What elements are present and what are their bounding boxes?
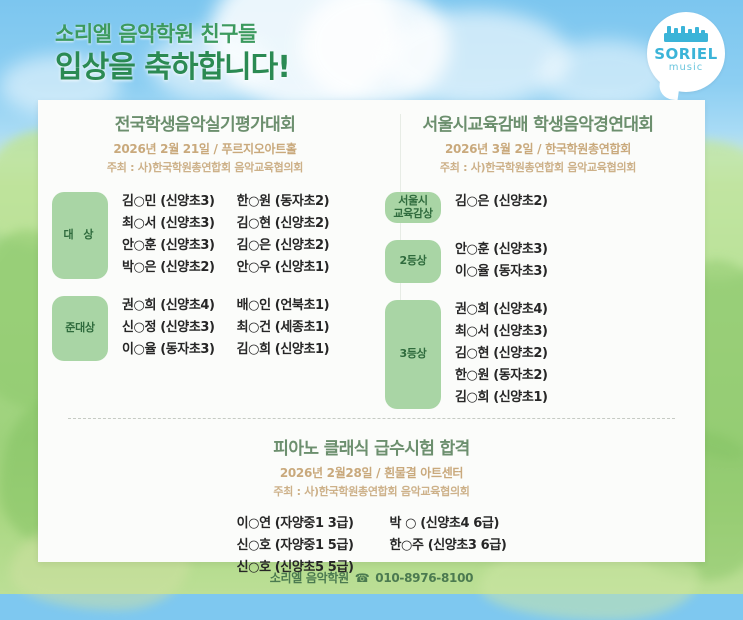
winner-name: 안○훈 (신양초3): [455, 239, 548, 261]
winner-name-column: 안○훈 (신양초3)이○율 (동자초3): [455, 239, 548, 283]
award-badge-line: 준대상: [65, 322, 94, 335]
award-group: 준대상권○희 (신양초4)신○정 (신양초3)이○율 (동자초3)배○인 (언북…: [40, 295, 370, 361]
winner-name: 권○희 (신양초4): [122, 295, 215, 317]
content-card: 전국학생음악실기평가대회2026년 2월 21일 / 푸르지오아트홀주최 : 사…: [38, 100, 705, 562]
winner-name: 신○정 (신양초3): [122, 317, 215, 339]
headline-title: 입상을 축하합니다!: [55, 49, 290, 87]
winner-name: 박○은 (신양초2): [122, 257, 215, 279]
winner-name-column: 김○민 (신양초3)최○서 (신양초3)안○훈 (신양초3)박○은 (신양초2): [122, 191, 215, 279]
winner-name: 안○훈 (신양초3): [122, 235, 215, 257]
award-badge-line: 2등상: [400, 255, 427, 268]
footer-contact: 소리엘 음악학원 ☎ 010-8976-8100: [0, 569, 743, 586]
winner-name: 김○은 (신양초2): [237, 235, 330, 257]
logo-bubble-tail: [658, 78, 681, 101]
winner-name-column: 권○희 (신양초4)최○서 (신양초3)김○현 (신양초2)한○원 (동자초2)…: [455, 299, 548, 409]
winner-name-column: 배○인 (언북초1)최○건 (세종초1)김○희 (신양초1): [237, 295, 330, 361]
winner-name-column: 김○은 (신양초2): [455, 191, 548, 223]
contest-block-seoul: 서울시교육감배 학생음악경연대회2026년 3월 2일 / 한국학원총연합회주최…: [373, 110, 703, 409]
piano-date: 2026년 2월28일 / 흰물결 아트센터: [38, 464, 705, 481]
telephone-icon: ☎: [355, 571, 370, 585]
winner-name-column: 권○희 (신양초4)신○정 (신양초3)이○율 (동자초3): [122, 295, 215, 361]
piano-exam-section: 피아노 클래식 급수시험 합격 2026년 2월28일 / 흰물결 아트센터 주…: [38, 434, 705, 579]
winner-name: 김○희 (신양초1): [455, 387, 548, 409]
award-group: 3등상권○희 (신양초4)최○서 (신양초3)김○현 (신양초2)한○원 (동자…: [373, 299, 703, 409]
contest-host: 주최 : 사)한국학원총연합회 음악교육협의회: [373, 159, 703, 175]
piano-pass-name: 이○연 (자양중1 3급): [237, 513, 354, 535]
winner-name: 이○율 (동자초3): [455, 261, 548, 283]
winner-name: 김○민 (신양초3): [122, 191, 215, 213]
winner-name-columns: 김○은 (신양초2): [455, 191, 548, 223]
contest-date-venue: 2026년 2월 21일 / 푸르지오아트홀: [40, 140, 370, 157]
headline-group: 소리엘 음악학원 친구들 입상을 축하합니다!: [55, 20, 290, 87]
contest-date-venue: 2026년 3월 2일 / 한국학원총연합회: [373, 140, 703, 157]
logo-subtitle: music: [647, 62, 725, 73]
winner-name: 최○건 (세종초1): [237, 317, 330, 339]
award-badge: 2등상: [385, 240, 441, 283]
winner-name-columns: 권○희 (신양초4)신○정 (신양초3)이○율 (동자초3)배○인 (언북초1)…: [122, 295, 329, 361]
award-badge: 준대상: [52, 296, 108, 361]
winner-name-column: 한○원 (동자초2)김○현 (신양초2)김○은 (신양초2)안○우 (신양초1): [237, 191, 330, 279]
winner-name: 김○현 (신양초2): [237, 213, 330, 235]
footer-phone-number: 010-8976-8100: [375, 571, 473, 585]
winner-name: 배○인 (언북초1): [237, 295, 330, 317]
winner-name: 김○은 (신양초2): [455, 191, 548, 213]
winner-name: 한○원 (동자초2): [455, 365, 548, 387]
piano-pass-name: 박 ○ (신양초4 6급): [390, 513, 507, 535]
contest-host: 주최 : 사)한국학원총연합회 음악교육협의회: [40, 159, 370, 175]
piano-pass-name: 신○호 (자양중1 5급): [237, 535, 354, 557]
winner-name-columns: 안○훈 (신양초3)이○율 (동자초3): [455, 239, 548, 283]
winner-name-columns: 권○희 (신양초4)최○서 (신양초3)김○현 (신양초2)한○원 (동자초2)…: [455, 299, 548, 409]
winner-name-columns: 김○민 (신양초3)최○서 (신양초3)안○훈 (신양초3)박○은 (신양초2)…: [122, 191, 329, 279]
piano-host: 주최 : 사)한국학원총연합회 음악교육협의회: [38, 483, 705, 499]
winner-name: 안○우 (신양초1): [237, 257, 330, 279]
award-badge: 서울시교육감상: [385, 192, 441, 223]
award-badge: 3등상: [385, 300, 441, 409]
piano-title: 피아노 클래식 급수시험 합격: [38, 434, 705, 459]
award-badge-line: 교육감상: [393, 208, 432, 221]
winner-name: 한○원 (동자초2): [237, 191, 330, 213]
award-group: 서울시교육감상김○은 (신양초2): [373, 191, 703, 223]
winner-name: 최○서 (신양초3): [455, 321, 548, 343]
award-badge-line: 서울시: [398, 195, 427, 208]
winner-name: 최○서 (신양초3): [122, 213, 215, 235]
piano-keys-icon: [664, 26, 708, 42]
headline-subtitle: 소리엘 음악학원 친구들: [55, 20, 290, 48]
soriel-music-logo: SORIEL music: [647, 12, 725, 92]
award-badge-line: 대 상: [63, 229, 96, 242]
award-group: 대 상김○민 (신양초3)최○서 (신양초3)안○훈 (신양초3)박○은 (신양…: [40, 191, 370, 279]
footer-academy-name: 소리엘 음악학원: [270, 571, 349, 585]
contest-title: 전국학생음악실기평가대회: [40, 110, 370, 135]
logo-name: SORIEL: [647, 45, 725, 63]
winner-name: 김○희 (신양초1): [237, 339, 330, 361]
piano-pass-name: 한○주 (신양초3 6급): [390, 535, 507, 557]
winner-name: 이○율 (동자초3): [122, 339, 215, 361]
winner-name: 권○희 (신양초4): [455, 299, 548, 321]
poster-background: 소리엘 음악학원 친구들 입상을 축하합니다! SORIEL music 전국학…: [0, 0, 743, 594]
poster-header: 소리엘 음악학원 친구들 입상을 축하합니다! SORIEL music: [0, 0, 743, 100]
winner-name: 김○현 (신양초2): [455, 343, 548, 365]
contest-title: 서울시교육감배 학생음악경연대회: [373, 110, 703, 135]
award-group: 2등상안○훈 (신양초3)이○율 (동자초3): [373, 239, 703, 283]
award-badge-line: 3등상: [400, 348, 427, 361]
contest-block-national: 전국학생음악실기평가대회2026년 2월 21일 / 푸르지오아트홀주최 : 사…: [40, 110, 370, 361]
section-divider: [68, 418, 675, 419]
award-badge: 대 상: [52, 192, 108, 279]
